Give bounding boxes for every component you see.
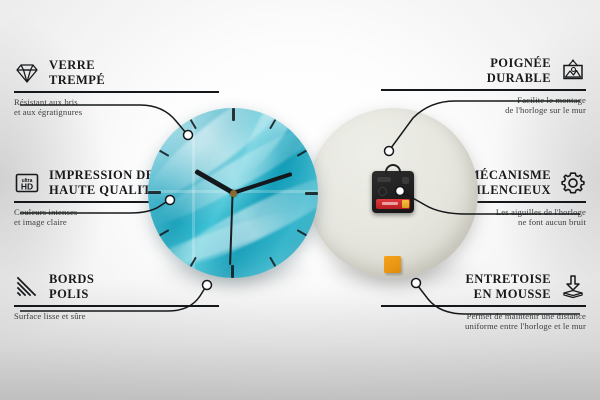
feature-description: Surface lisse et sûre bbox=[14, 311, 219, 322]
infographic-stage: VERRETREMPÉ Résistant aux briset aux égr… bbox=[0, 0, 600, 400]
feature-title: IMPRESSION DEHAUTE QUALITÉ bbox=[49, 168, 160, 197]
feature-bords-polis[interactable]: BORDSPOLIS Surface lisse et sûre bbox=[14, 272, 219, 321]
feature-description: Permet de maintenir une distanceuniforme… bbox=[381, 311, 586, 332]
feature-entretoise-en-mousse[interactable]: ENTRETOISEEN MOUSSE Permet de maintenir … bbox=[381, 272, 586, 332]
clock-tick bbox=[148, 192, 233, 194]
clock-tick bbox=[232, 108, 234, 193]
clock-tick bbox=[233, 192, 318, 194]
feature-poignee-durable[interactable]: POIGNÉEDURABLE Facilite le montagede l'h… bbox=[381, 56, 586, 116]
divider bbox=[381, 305, 586, 307]
hanging-loop-icon bbox=[385, 164, 401, 174]
mechanism-detail bbox=[378, 187, 387, 196]
feature-title: VERRETREMPÉ bbox=[49, 58, 105, 87]
clock-front-view[interactable] bbox=[148, 108, 318, 278]
clock-back-view[interactable] bbox=[308, 108, 478, 278]
feature-title: ENTRETOISEEN MOUSSE bbox=[465, 272, 551, 301]
divider bbox=[14, 91, 219, 93]
polished-edges-icon bbox=[14, 274, 40, 300]
clock-mechanism bbox=[372, 171, 414, 213]
ultra-hd-icon: ultra HD bbox=[14, 170, 40, 196]
mechanism-detail bbox=[402, 177, 409, 184]
feature-title: BORDSPOLIS bbox=[49, 272, 94, 301]
feature-title: MÉCANISMESILENCIEUX bbox=[468, 168, 551, 197]
gear-icon bbox=[560, 170, 586, 196]
feature-title: POIGNÉEDURABLE bbox=[487, 56, 551, 85]
clock-center-pin bbox=[230, 190, 237, 197]
divider bbox=[381, 89, 586, 91]
mechanism-detail bbox=[377, 177, 391, 182]
diamond-icon bbox=[14, 60, 40, 86]
hanging-frame-icon bbox=[560, 58, 586, 84]
foam-spacer-icon bbox=[560, 274, 586, 300]
battery bbox=[376, 199, 410, 209]
divider bbox=[14, 305, 219, 307]
svg-text:HD: HD bbox=[21, 181, 33, 191]
foam-spacer bbox=[384, 256, 401, 273]
